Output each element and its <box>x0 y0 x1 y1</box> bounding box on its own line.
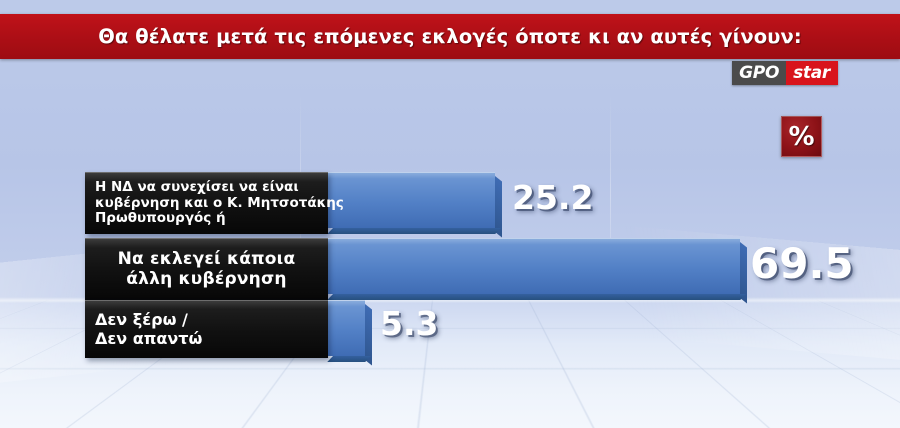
label-line: Πρωθυπουργός ή <box>95 211 318 227</box>
bar-label-0: Η ΝΔ να συνεχίσει να είναι κυβέρνηση και… <box>85 172 328 234</box>
label-line: άλλη κυβέρνηση <box>95 270 318 290</box>
bar-value-2: 5.3 <box>380 307 438 340</box>
bar-bottom-face <box>327 228 501 234</box>
label-line: κυβέρνηση και ο Κ. Μητσοτάκης <box>95 196 318 212</box>
bar-bottom-face <box>327 356 371 362</box>
label-line: Δεν απαντώ <box>95 330 318 349</box>
bar-label-2: Δεν ξέρω / Δεν απαντώ <box>85 300 328 358</box>
label-line: Η ΝΔ να συνεχίσει να είναι <box>95 180 318 196</box>
bar-value-0: 25.2 <box>512 181 593 214</box>
bar-value-1: 69.5 <box>750 243 854 285</box>
bar-bottom-face <box>327 294 746 300</box>
bar-2 <box>327 300 365 356</box>
label-line: Δεν ξέρω / <box>95 311 318 330</box>
bar-1 <box>327 238 740 294</box>
bar-label-1: Να εκλεγεί κάποια άλλη κυβέρνηση <box>85 238 328 300</box>
label-line: Να εκλεγεί κάποια <box>95 250 318 270</box>
bar-0 <box>327 172 495 228</box>
bar-chart: Η ΝΔ να συνεχίσει να είναι κυβέρνηση και… <box>0 0 900 428</box>
